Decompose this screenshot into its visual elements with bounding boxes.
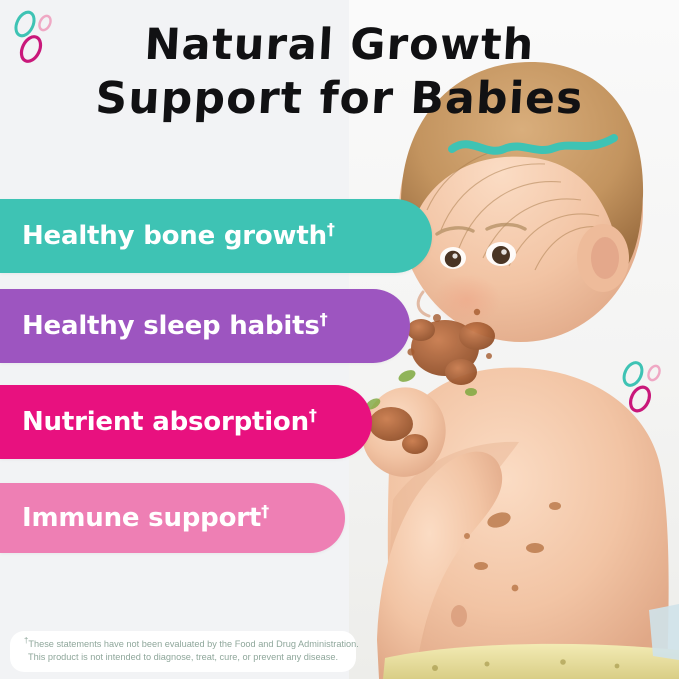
decorative-ellipses-top-left bbox=[6, 6, 76, 76]
benefit-pill-label: Healthy sleep habits† bbox=[0, 311, 327, 341]
dagger-marker: † bbox=[320, 309, 328, 328]
benefit-pill-label: Immune support† bbox=[0, 503, 269, 533]
dagger-marker: † bbox=[309, 405, 317, 424]
benefit-text: Healthy bone growth bbox=[22, 221, 327, 251]
benefit-text: Immune support bbox=[22, 503, 261, 533]
disclaimer-text-1: These statements have not been evaluated… bbox=[28, 639, 358, 649]
benefit-pill-healthy-bone-growth[interactable]: Healthy bone growth† bbox=[0, 199, 432, 273]
benefit-text: Nutrient absorption bbox=[22, 407, 309, 437]
benefit-pill-immune-support[interactable]: Immune support† bbox=[0, 483, 345, 553]
benefit-text: Healthy sleep habits bbox=[22, 311, 320, 341]
benefit-pill-label: Healthy bone growth† bbox=[0, 221, 335, 251]
dagger-marker: † bbox=[261, 501, 269, 520]
squiggle-underline-icon bbox=[448, 131, 618, 161]
benefit-pill-healthy-sleep-habits[interactable]: Healthy sleep habits† bbox=[0, 289, 410, 363]
dagger-marker: † bbox=[327, 219, 335, 238]
benefit-pill-label: Nutrient absorption† bbox=[0, 407, 317, 437]
fda-disclaimer: †These statements have not been evaluate… bbox=[10, 631, 356, 672]
disclaimer-line-2: This product is not intended to diagnose… bbox=[24, 651, 342, 664]
marketing-poster: Natural Growth Support for Babies Health… bbox=[0, 0, 679, 679]
benefit-pill-nutrient-absorption[interactable]: Nutrient absorption† bbox=[0, 385, 372, 459]
disclaimer-line-1: †These statements have not been evaluate… bbox=[24, 638, 342, 651]
